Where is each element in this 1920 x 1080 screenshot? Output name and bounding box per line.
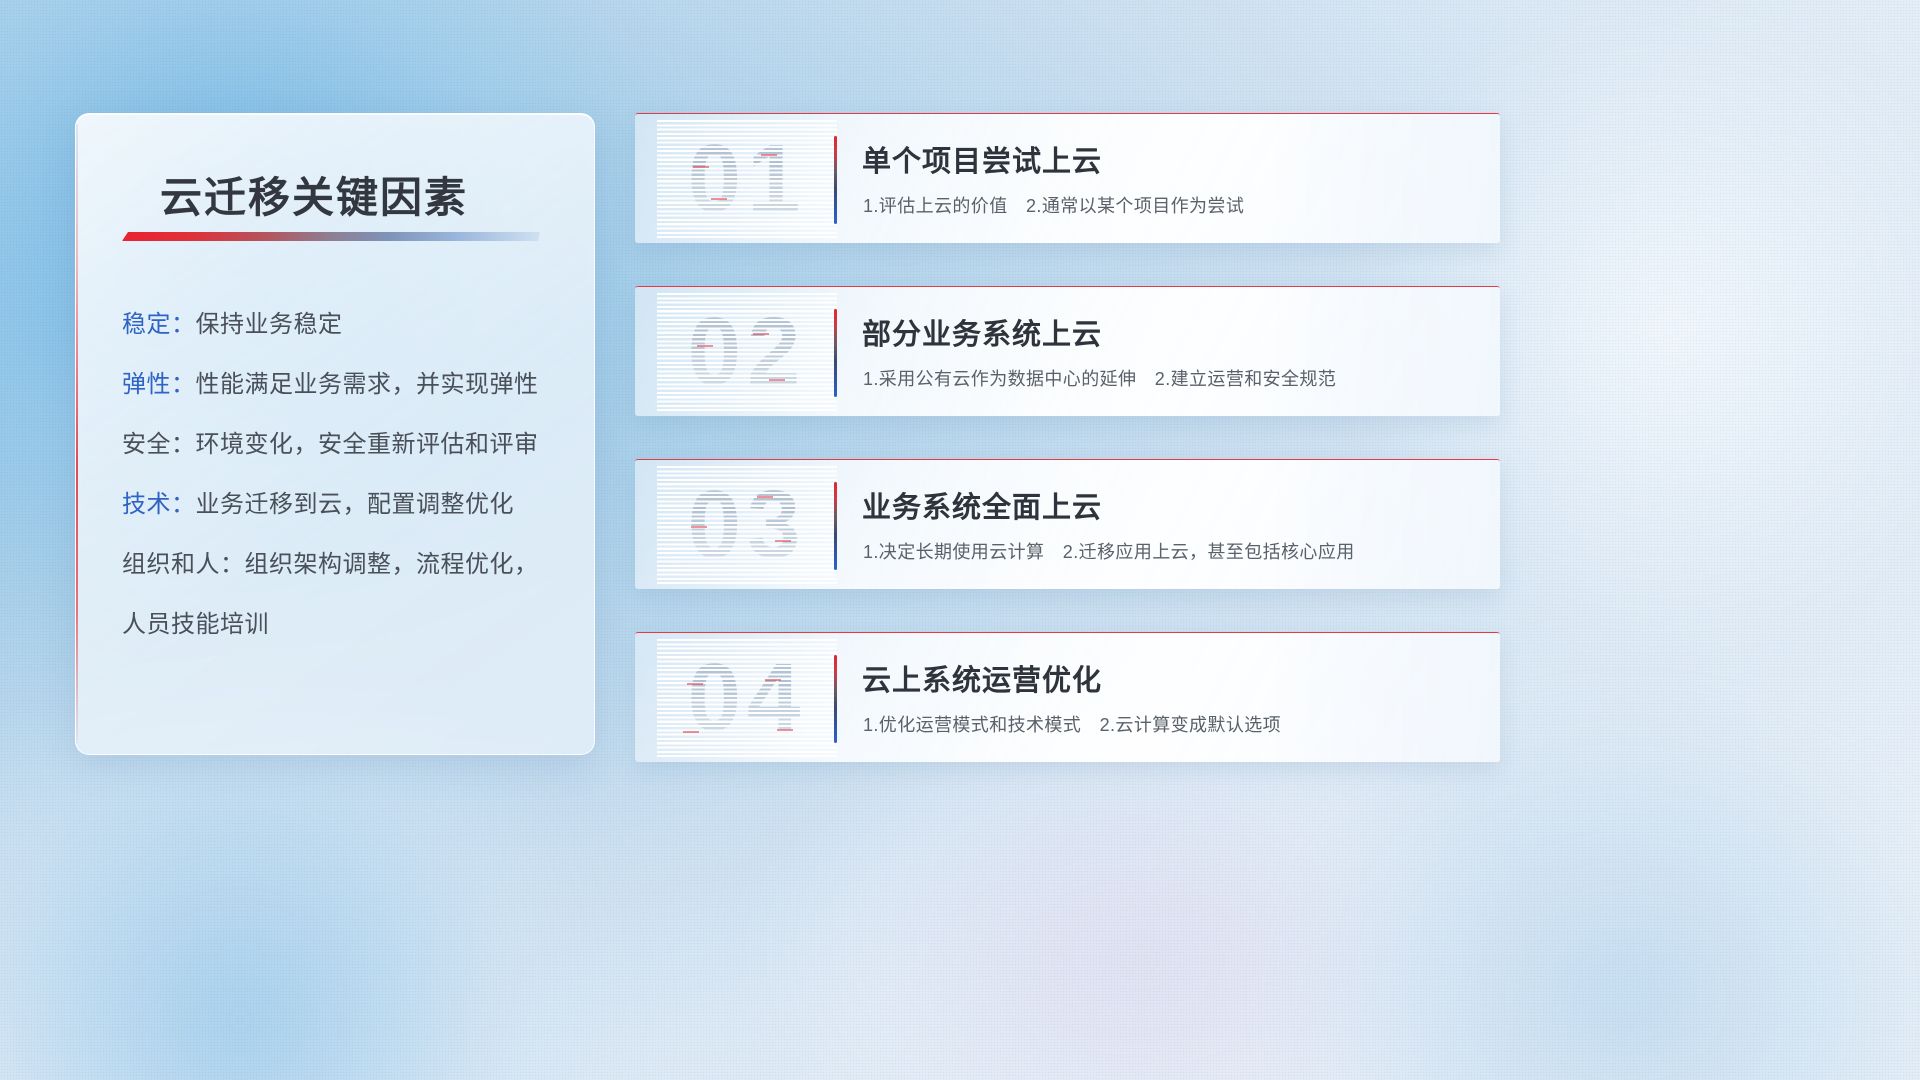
step-number-badge: 02: [657, 293, 837, 411]
page-title: 云迁移关键因素: [160, 164, 468, 225]
step-description: 1.决定长期使用云计算 2.迁移应用上云，甚至包括核心应用: [863, 538, 1355, 564]
step-description: 1.优化运营模式和技术模式 2.云计算变成默认选项: [863, 711, 1281, 737]
step-description: 1.评估上云的价值 2.通常以某个项目作为尝试: [863, 192, 1244, 218]
list-item-key: 弹性：: [122, 371, 196, 398]
list-item: 弹性：性能满足业务需求，并实现弹性: [122, 370, 570, 400]
list-item-key: 组织和人：: [122, 551, 245, 578]
key-factors-list: 稳定：保持业务稳定 弹性：性能满足业务需求，并实现弹性 安全：环境变化，安全重新…: [122, 310, 570, 640]
accent-divider: [834, 136, 837, 224]
step-card-02[interactable]: 02 部分业务系统上云 1.采用公有云作为数据中心的延伸 2.建立运营和安全规范: [635, 286, 1500, 416]
step-title: 业务系统全面上云: [862, 484, 1102, 526]
list-item-text: 人员技能培训: [122, 611, 269, 638]
accent-divider: [834, 482, 837, 570]
step-title: 云上系统运营优化: [862, 657, 1102, 699]
card-right-fade: [1260, 460, 1500, 589]
accent-divider: [834, 309, 837, 397]
step-number: 01: [657, 120, 837, 238]
list-item-key: 技术：: [122, 491, 196, 518]
step-card-04[interactable]: 04 云上系统运营优化 1.优化运营模式和技术模式 2.云计算变成默认选项: [635, 632, 1500, 762]
list-item: 组织和人：组织架构调整，流程优化，: [122, 550, 570, 580]
list-item: 安全：环境变化，安全重新评估和评审: [122, 430, 570, 460]
card-right-fade: [1260, 287, 1500, 416]
list-item-continuation: 人员技能培训: [122, 610, 570, 640]
step-card-03[interactable]: 03 业务系统全面上云 1.决定长期使用云计算 2.迁移应用上云，甚至包括核心应…: [635, 459, 1500, 589]
list-item-text: 性能满足业务需求，并实现弹性: [196, 371, 539, 398]
card-right-fade: [1260, 633, 1500, 762]
step-title: 部分业务系统上云: [862, 311, 1102, 353]
step-number-badge: 03: [657, 466, 837, 584]
title-underline-gradient: [122, 232, 540, 241]
list-item-text: 保持业务稳定: [196, 311, 343, 338]
list-item-text: 组织架构调整，流程优化，: [245, 551, 539, 578]
step-title: 单个项目尝试上云: [862, 138, 1102, 180]
list-item: 稳定：保持业务稳定: [122, 310, 570, 340]
key-factors-panel: 云迁移关键因素 稳定：保持业务稳定 弹性：性能满足业务需求，并实现弹性 安全：环…: [75, 113, 595, 755]
step-number-badge: 01: [657, 120, 837, 238]
step-description: 1.采用公有云作为数据中心的延伸 2.建立运营和安全规范: [863, 365, 1336, 391]
migration-steps-list: 01 单个项目尝试上云 1.评估上云的价值 2.通常以某个项目作为尝试 02 部…: [635, 113, 1500, 762]
step-card-01[interactable]: 01 单个项目尝试上云 1.评估上云的价值 2.通常以某个项目作为尝试: [635, 113, 1500, 243]
list-item-key: 安全：: [122, 431, 196, 458]
list-item-text: 业务迁移到云，配置调整优化: [196, 491, 515, 518]
accent-divider: [834, 655, 837, 743]
step-number-badge: 04: [657, 639, 837, 757]
step-number: 03: [657, 466, 837, 584]
card-right-fade: [1260, 114, 1500, 243]
list-item-key: 稳定：: [122, 311, 196, 338]
list-item-text: 环境变化，安全重新评估和评审: [196, 431, 539, 458]
step-number: 04: [657, 639, 837, 757]
step-number: 02: [657, 293, 837, 411]
panel-accent-edge: [76, 124, 78, 744]
list-item: 技术：业务迁移到云，配置调整优化: [122, 490, 570, 520]
